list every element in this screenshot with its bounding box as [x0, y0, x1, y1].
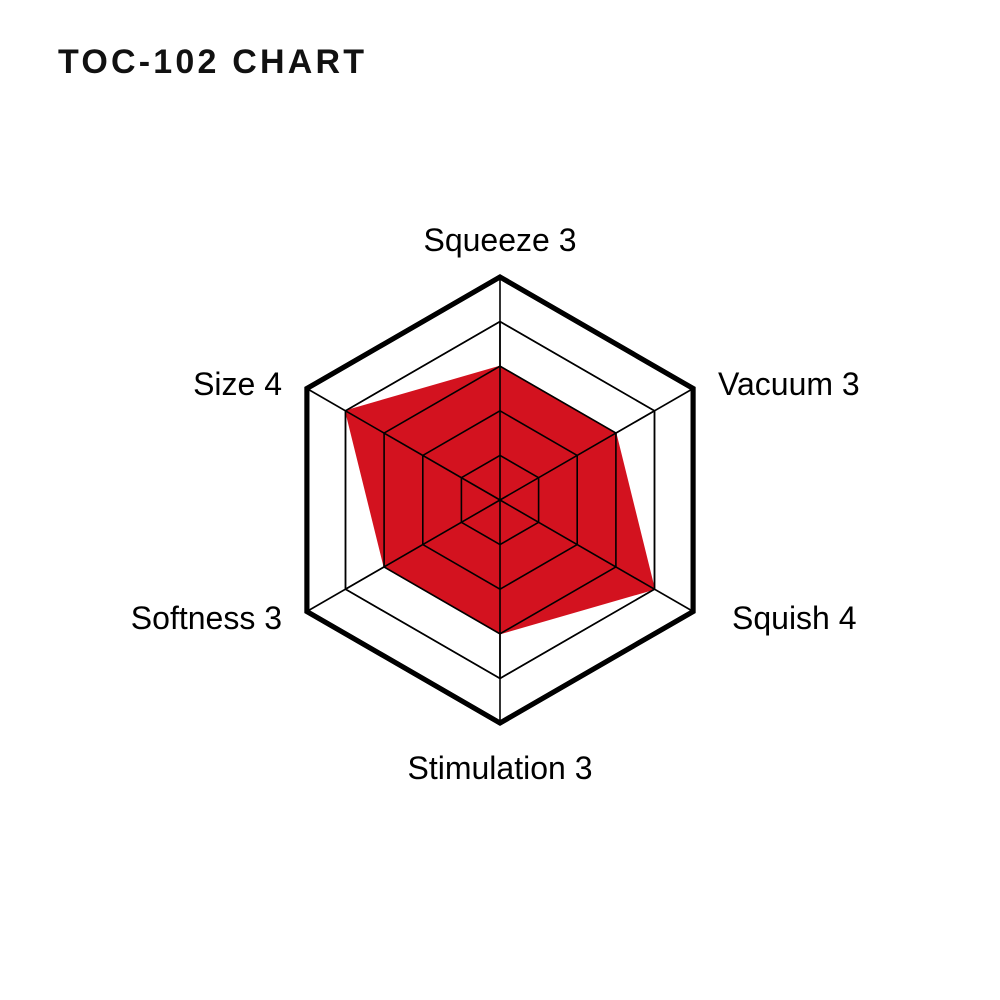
axis-label-vacuum: Vacuum 3	[718, 366, 860, 402]
axis-label-squish: Squish 4	[732, 600, 857, 636]
axis-label-size: Size 4	[193, 366, 282, 402]
axis-label-stimulation: Stimulation 3	[408, 750, 593, 786]
axis-label-squeeze: Squeeze 3	[423, 222, 576, 258]
radar-grid-overlay	[307, 277, 693, 723]
chart-page: TOC-102 CHART	[0, 0, 1000, 1000]
radar-chart	[0, 0, 1000, 1000]
axis-label-softness: Softness 3	[131, 600, 282, 636]
